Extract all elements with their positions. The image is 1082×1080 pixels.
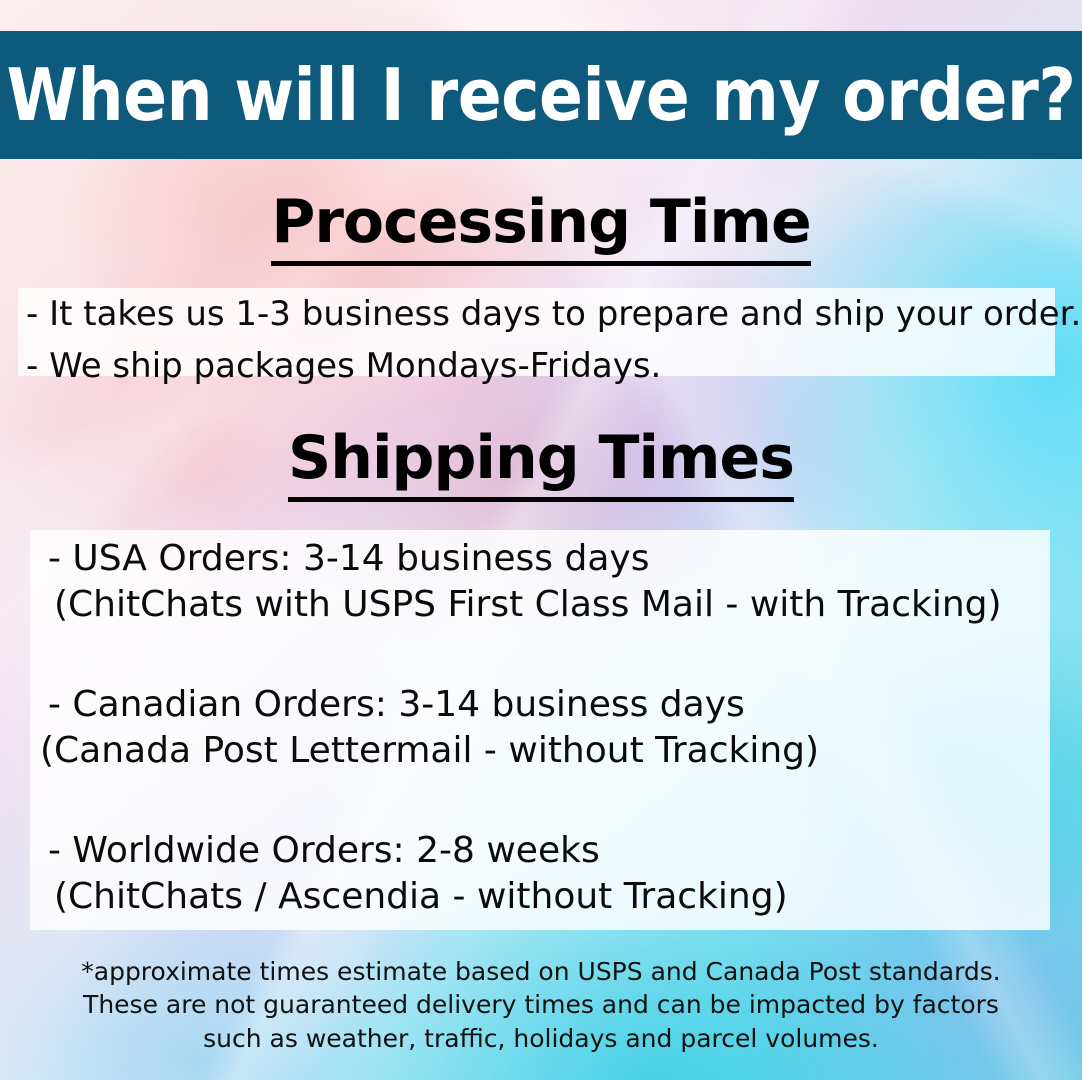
section-heading-shipping-label: Shipping Times bbox=[288, 423, 794, 502]
shipping-canada-carrier: (Canada Post Lettermail - without Tracki… bbox=[40, 728, 1060, 774]
section-heading-processing: Processing Time bbox=[0, 192, 1082, 252]
shipping-canada-duration: - Canadian Orders: 3-14 business days bbox=[40, 682, 1060, 728]
shipping-times-panel: - USA Orders: 3-14 business days (ChitCh… bbox=[30, 530, 1050, 930]
page-title: When will I receive my order? bbox=[7, 59, 1076, 131]
section-heading-processing-label: Processing Time bbox=[271, 187, 810, 266]
shipping-block-usa: - USA Orders: 3-14 business days (ChitCh… bbox=[30, 536, 1060, 628]
section-heading-shipping: Shipping Times bbox=[0, 428, 1082, 488]
footer-line-1: *approximate times estimate based on USP… bbox=[0, 955, 1082, 988]
shipping-usa-carrier: (ChitChats with USPS First Class Mail - … bbox=[40, 582, 1060, 628]
shipping-worldwide-duration: - Worldwide Orders: 2-8 weeks bbox=[40, 828, 1060, 874]
shipping-usa-duration: - USA Orders: 3-14 business days bbox=[40, 536, 1060, 582]
shipping-info-graphic: When will I receive my order? Processing… bbox=[0, 0, 1082, 1080]
shipping-block-worldwide: - Worldwide Orders: 2-8 weeks (ChitChats… bbox=[30, 828, 1060, 920]
footer-line-2: These are not guaranteed delivery times … bbox=[0, 988, 1082, 1021]
processing-time-panel: - It takes us 1-3 business days to prepa… bbox=[18, 288, 1055, 376]
shipping-block-canada: - Canadian Orders: 3-14 business days (C… bbox=[30, 682, 1060, 774]
processing-line-1: - It takes us 1-3 business days to prepa… bbox=[18, 288, 1055, 340]
header-banner: When will I receive my order? bbox=[0, 31, 1082, 159]
shipping-worldwide-carrier: (ChitChats / Ascendia - without Tracking… bbox=[40, 874, 1060, 920]
footer-disclaimer: *approximate times estimate based on USP… bbox=[0, 955, 1082, 1055]
footer-line-3: such as weather, traffic, holidays and p… bbox=[0, 1022, 1082, 1055]
processing-line-2: - We ship packages Mondays-Fridays. bbox=[18, 340, 1055, 392]
